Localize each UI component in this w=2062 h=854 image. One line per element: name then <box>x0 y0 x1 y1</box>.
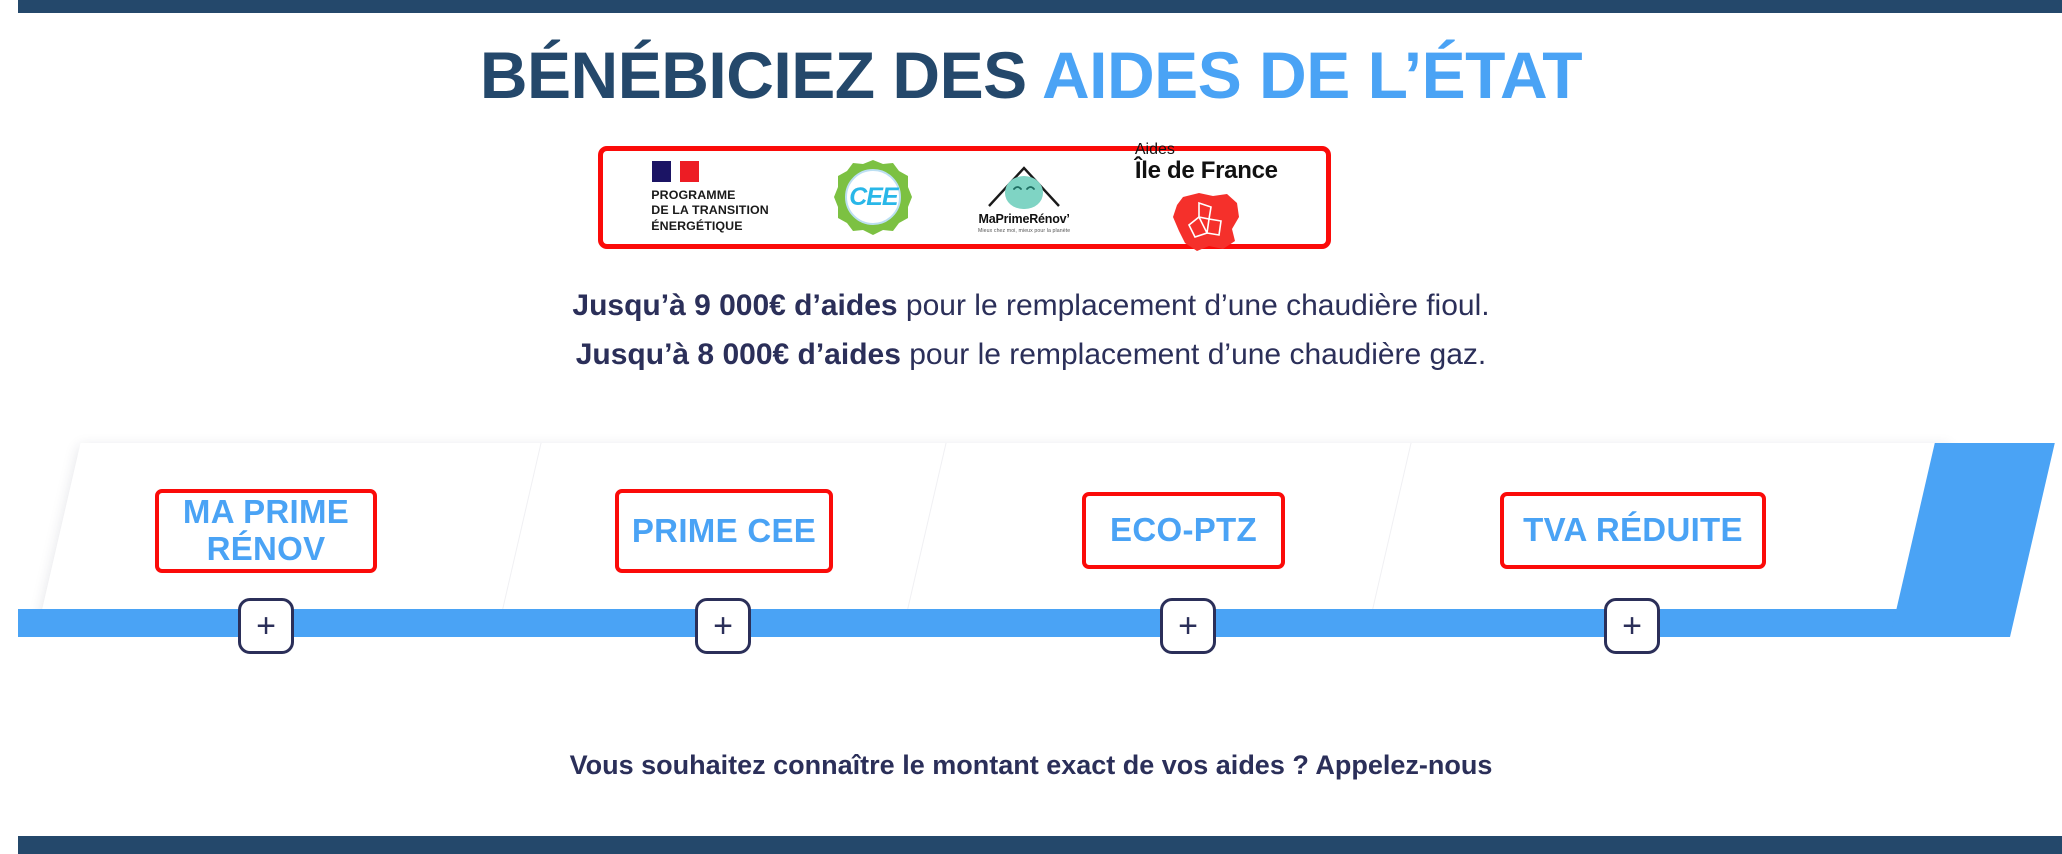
logo-maprimerenov: MaPrimeRénov’ Mieux chez moi, mieux pour… <box>978 162 1070 234</box>
partner-logo-strip: PROGRAMME DE LA TRANSITION ÉNERGÉTIQUE C… <box>598 146 1331 249</box>
aid-card-label-prime-cee: PRIME CEE <box>632 513 816 550</box>
aid-amount-lines: Jusqu’à 9 000€ d’aides pour le remplacem… <box>0 282 2062 379</box>
idf-label-big: Île de France <box>1135 158 1278 184</box>
aid-expand-button-ma-prime-renov[interactable]: + <box>238 598 294 654</box>
aid-card-ma-prime-renov[interactable]: MA PRIME RÉNOV <box>155 489 377 573</box>
maprimerenov-tagline: Mieux chez moi, mieux pour la planète <box>978 228 1070 234</box>
call-to-action-text: Vous souhaitez connaître le montant exac… <box>0 750 2062 781</box>
aid-amount-fioul-bold: Jusqu’à 9 000€ d’aides <box>572 289 897 322</box>
maprimerenov-label: MaPrimeRénov’ <box>979 212 1070 226</box>
cee-badge-icon: CEE <box>833 158 913 238</box>
aid-amount-gaz-rest: pour le remplacement d’une chaudière gaz… <box>901 338 1486 371</box>
top-divider-bar <box>18 0 2062 13</box>
aid-card-tva-reduite[interactable]: TVA RÉDUITE <box>1500 492 1766 569</box>
smiley-blob-icon <box>1005 176 1043 209</box>
french-flag-icon <box>652 161 699 182</box>
aid-expand-button-prime-cee[interactable]: + <box>695 598 751 654</box>
house-roof-icon <box>983 162 1065 210</box>
cee-label: CEE <box>833 158 913 238</box>
aid-expand-button-eco-ptz[interactable]: + <box>1160 598 1216 654</box>
aid-card-prime-cee[interactable]: PRIME CEE <box>615 489 833 573</box>
aid-card-label-tva-reduite: TVA RÉDUITE <box>1523 512 1743 549</box>
aid-amount-line-gaz: Jusqu’à 8 000€ d’aides pour le remplacem… <box>0 331 2062 380</box>
aid-card-eco-ptz[interactable]: ECO-PTZ <box>1082 492 1285 569</box>
idf-label-small: Aides <box>1135 142 1278 158</box>
page-title: BÉNÉBICIEZ DES AIDES DE L’ÉTAT <box>0 42 2062 108</box>
aid-amount-line-fioul: Jusqu’à 9 000€ d’aides pour le remplacem… <box>0 282 2062 331</box>
logo-aides-ile-de-france: Aides Île de France <box>1135 142 1278 252</box>
logo-programme-line1: PROGRAMME <box>651 188 768 203</box>
plus-icon: + <box>256 609 276 643</box>
aid-card-label-eco-ptz: ECO-PTZ <box>1110 512 1257 549</box>
logo-programme-line2: DE LA TRANSITION <box>651 203 768 218</box>
aid-amount-fioul-rest: pour le remplacement d’une chaudière fio… <box>898 289 1490 322</box>
page-title-light-part: AIDES DE L’ÉTAT <box>1042 38 1582 112</box>
logo-programme-transition-energetique: PROGRAMME DE LA TRANSITION ÉNERGÉTIQUE <box>651 161 768 233</box>
aid-card-label-ma-prime-renov: MA PRIME RÉNOV <box>159 494 373 568</box>
plus-icon: + <box>1622 609 1642 643</box>
plus-icon: + <box>1178 609 1198 643</box>
bottom-divider-bar <box>18 836 2062 854</box>
logo-programme-text: PROGRAMME DE LA TRANSITION ÉNERGÉTIQUE <box>651 188 768 233</box>
page-title-dark-part: BÉNÉBICIEZ DES <box>480 38 1042 112</box>
aid-expand-button-tva-reduite[interactable]: + <box>1604 598 1660 654</box>
logo-cee: CEE <box>833 158 913 238</box>
ile-de-france-map-icon <box>1169 191 1243 253</box>
logo-programme-line3: ÉNERGÉTIQUE <box>651 219 768 234</box>
plus-icon: + <box>713 609 733 643</box>
aid-amount-gaz-bold: Jusqu’à 8 000€ d’aides <box>576 338 901 371</box>
